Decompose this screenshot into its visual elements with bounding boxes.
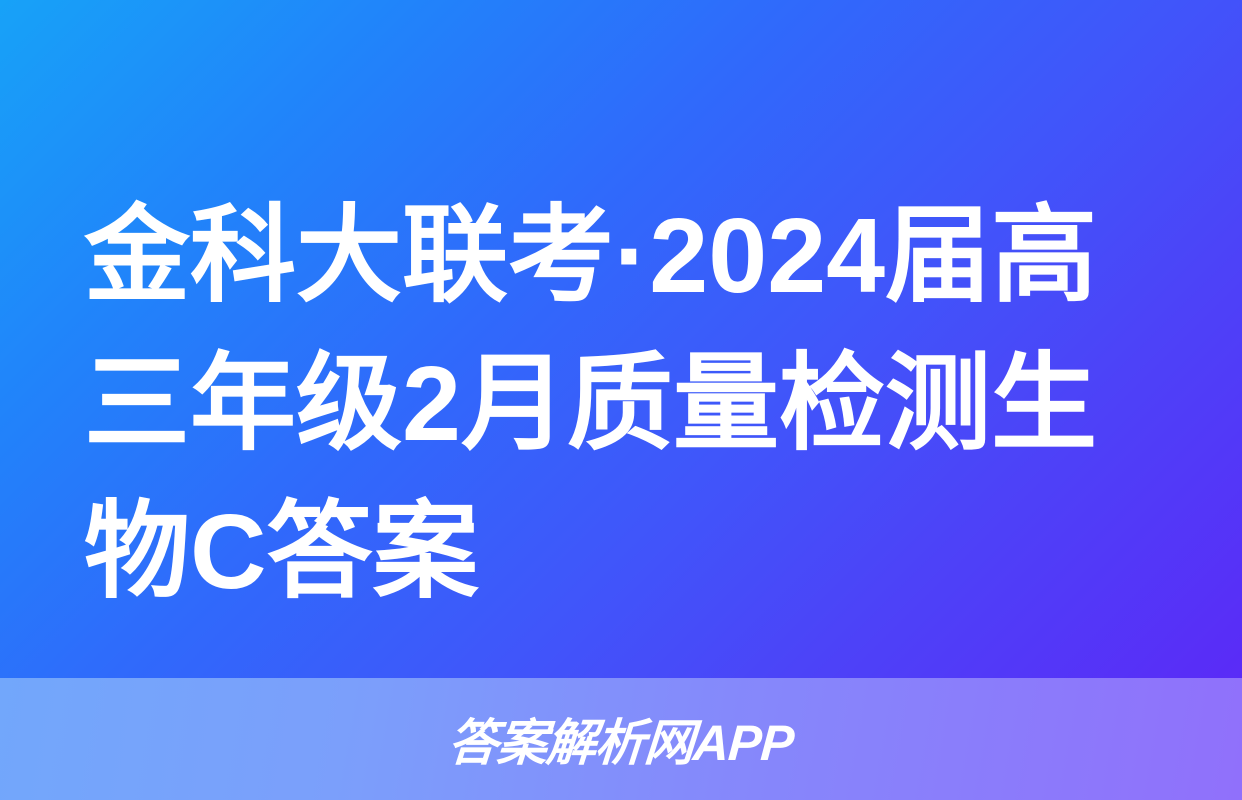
page-title: 金科大联考·2024届高三年级2月质量检测生物C答案	[84, 182, 1162, 626]
watermark-app-label: 答案解析网APP	[0, 678, 1242, 800]
poster-image: 金科大联考·2024届高三年级2月质量检测生物C答案 答案解析网APP	[0, 0, 1242, 800]
watermark-band: 答案解析网APP	[0, 678, 1242, 800]
hero-gradient-panel: 金科大联考·2024届高三年级2月质量检测生物C答案	[0, 0, 1242, 678]
